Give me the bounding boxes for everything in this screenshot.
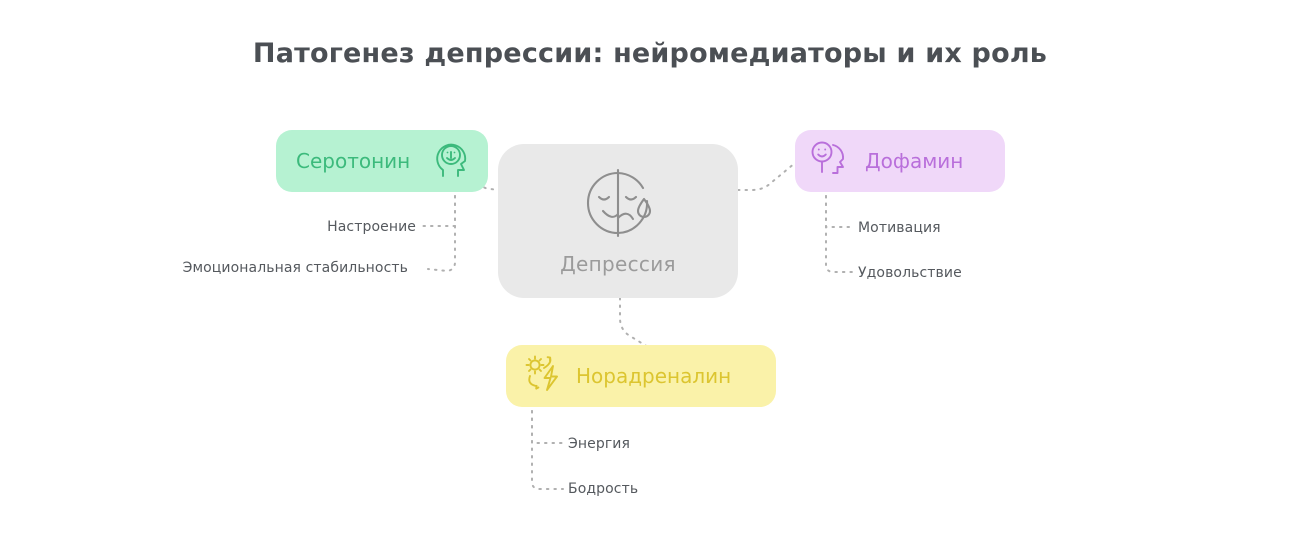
node-serotonin-label: Серотонин <box>296 149 410 173</box>
sublabel-noradrenaline-vigor: Бодрость <box>568 481 638 497</box>
node-depression[interactable]: Депрессия <box>498 144 738 298</box>
sad-happy-face-icon <box>581 166 655 244</box>
sublabel-serotonin-mood: Настроение <box>327 219 416 235</box>
page-title: Патогенез депрессии: нейромедиаторы и их… <box>0 38 1300 69</box>
node-dopamine[interactable]: Дофамин <box>795 130 1005 192</box>
connector-dopamine-sub-2 <box>826 196 852 272</box>
connector-serotonin-sub-2 <box>428 196 455 271</box>
connector-center-to-noradrenaline <box>620 298 648 347</box>
sublabel-serotonin-emotional-stability: Эмоциональная стабильность <box>183 260 408 276</box>
connector-noradrenaline-sub-1 <box>532 411 562 443</box>
node-dopamine-label: Дофамин <box>865 149 963 173</box>
sublabel-dopamine-pleasure: Удовольствие <box>858 265 962 281</box>
node-noradrenaline[interactable]: Норадреналин <box>506 345 776 407</box>
connector-serotonin-sub-1 <box>422 196 455 226</box>
sublabel-dopamine-motivation: Мотивация <box>858 220 941 236</box>
smiley-head-icon <box>811 140 851 182</box>
sun-lightning-icon <box>522 354 564 398</box>
sublabel-noradrenaline-energy: Энергия <box>568 436 630 452</box>
connector-center-to-dopamine <box>738 163 795 190</box>
diagram-canvas: Патогенез депрессии: нейромедиаторы и их… <box>0 0 1300 546</box>
node-serotonin[interactable]: Серотонин <box>276 130 488 192</box>
connector-noradrenaline-sub-2 <box>532 411 563 489</box>
head-with-face-icon <box>434 140 470 182</box>
node-noradrenaline-label: Норадреналин <box>576 364 731 388</box>
connector-dopamine-sub-1 <box>826 196 852 227</box>
node-depression-label: Депрессия <box>560 252 676 276</box>
